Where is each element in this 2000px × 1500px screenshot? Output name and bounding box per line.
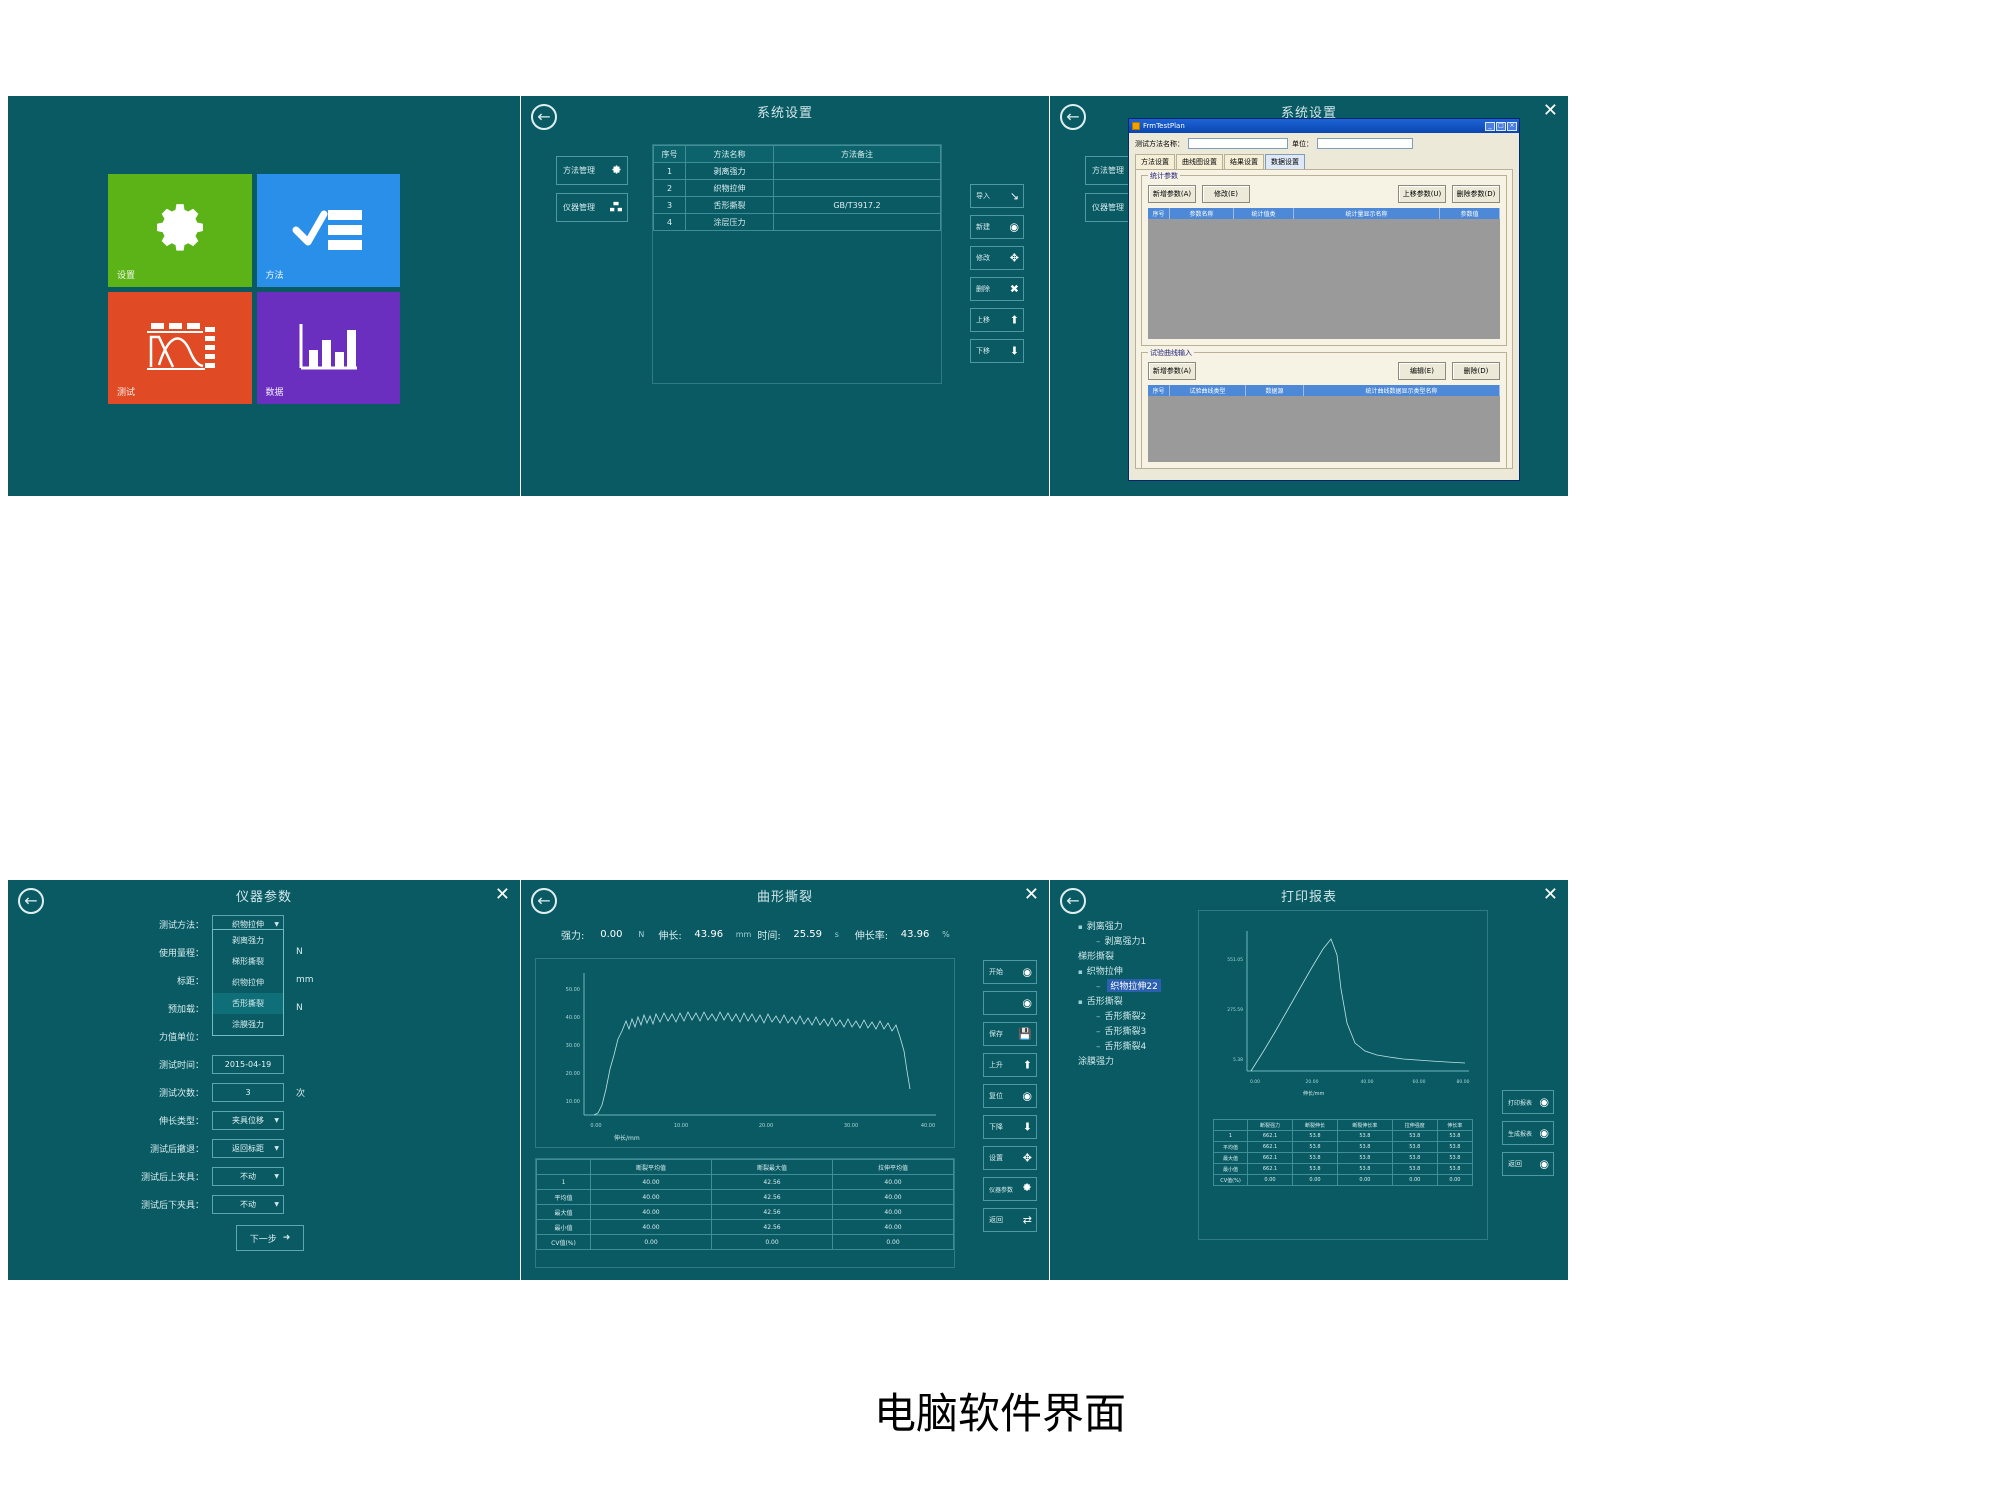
move-down-button[interactable]: 下降 ⬇	[983, 1115, 1037, 1139]
row-label: CV值(%)	[1214, 1175, 1248, 1186]
delete-curve-button[interactable]: 删除(D)	[1452, 362, 1500, 380]
cell-name: 舌形撕裂	[686, 197, 774, 214]
cell-value: 0.00	[1248, 1175, 1293, 1186]
report-result-table: 断裂强力 断裂伸长 断裂伸长率 拉伸强度 伸长率 1 662.1 53.8 53…	[1213, 1119, 1473, 1186]
figure-caption: 电脑软件界面	[0, 1380, 2000, 1441]
unit-input[interactable]	[1317, 138, 1413, 149]
curve-icon	[143, 319, 217, 377]
button-label: 修改	[976, 253, 990, 263]
cell-value: 40.00	[833, 1205, 954, 1220]
page-title: 系统设置	[521, 102, 1049, 121]
row-label: 最大值	[1214, 1153, 1248, 1164]
field-label: 测试时间：	[94, 1058, 212, 1071]
column-header-name: 方法名称	[686, 146, 774, 163]
method-name-input[interactable]	[1188, 138, 1288, 149]
print-circle-icon: ◉	[1539, 1096, 1549, 1109]
tree-node-trapezoid-tear[interactable]: 梯形撕裂	[1072, 948, 1184, 963]
doc-circle-icon: ◉	[1539, 1127, 1549, 1140]
parameter-grid-header: 序号 参数名称 统计值类 统计量显示名称 参数值	[1148, 208, 1500, 219]
tile-grid: 设置 方法	[108, 174, 400, 404]
svg-text:0.00: 0.00	[590, 1123, 601, 1129]
row-label: CV值(%)	[537, 1235, 591, 1250]
button-label: 下移	[976, 346, 990, 356]
devices-icon	[610, 201, 622, 214]
column-header-blank	[1214, 1120, 1248, 1131]
field-test-count: 测试次数： 3 次	[94, 1078, 434, 1106]
import-button[interactable]: 导入 ↘	[970, 184, 1024, 208]
field-test-date: 测试时间： 2015-04-19	[94, 1050, 434, 1078]
close-icon[interactable]: ×	[1507, 122, 1517, 131]
table-header-row: 序号 方法名称 方法备注	[654, 146, 941, 163]
side-button-label: 仪器管理	[1092, 202, 1124, 213]
cell-value: 53.8	[1293, 1164, 1338, 1175]
page-title: 曲形撕裂	[521, 886, 1049, 905]
column-header-tensile-avg: 拉伸平均值	[833, 1160, 954, 1175]
row-label: 1	[1214, 1131, 1248, 1142]
col-display: 统计量显示名称	[1294, 208, 1440, 219]
svg-text:80.00: 80.00	[1457, 1079, 1470, 1085]
edit-curve-button[interactable]: 编辑(E)	[1398, 362, 1446, 380]
refresh-icon: ⇄	[1023, 1214, 1032, 1227]
tile-label: 方法	[266, 268, 284, 281]
parameter-grid-body[interactable]	[1148, 219, 1500, 339]
system-settings-dialog-panel: ← 系统设置 ✕ 方法管理 仪器管理 FrmTestPlan _ □ ×	[1050, 96, 1568, 496]
cell-value: 42.56	[712, 1220, 833, 1235]
tree-node-tongue-tear[interactable]: 舌形撕裂	[1072, 993, 1184, 1008]
report-action-button-group: 打印报表 ◉ 生成报表 ◉ 返回 ◉	[1502, 1090, 1554, 1183]
reset-button[interactable]: 复位 ◉	[983, 1084, 1037, 1108]
edit-button[interactable]: 修改 ✥	[970, 246, 1024, 270]
cell-value: 662.1	[1248, 1131, 1293, 1142]
button-label: 设置	[989, 1153, 1003, 1163]
col-curve-type: 试验曲线类型	[1170, 385, 1246, 396]
table-row[interactable]: 最小值 662.1 53.8 53.8 53.8 53.8	[1214, 1164, 1473, 1175]
cell-value: 40.00	[833, 1190, 954, 1205]
table-row[interactable]: 2 织物拉伸	[654, 180, 941, 197]
svg-text:伸长/mm: 伸长/mm	[1303, 1090, 1325, 1097]
cell-value: 53.8	[1437, 1164, 1472, 1175]
next-step-button[interactable]: 下一步 ➜	[236, 1225, 304, 1251]
tile-label: 设置	[117, 268, 135, 281]
field-value: 不动	[240, 1199, 256, 1210]
cell-value: 53.8	[1437, 1142, 1472, 1153]
report-chart: 551.05 275.59 5.38 0.00 20.00 40.00 60.0…	[1207, 919, 1481, 1107]
row-label: 最大值	[537, 1205, 591, 1220]
col-index: 序号	[1148, 385, 1170, 396]
field-unit: 次	[284, 1086, 305, 1099]
cell-remark	[774, 214, 941, 231]
svg-text:0.00: 0.00	[1250, 1079, 1260, 1085]
table-row[interactable]: 平均值 662.1 53.8 53.8 53.8 53.8	[1214, 1142, 1473, 1153]
method-management-button[interactable]: 方法管理	[556, 156, 628, 185]
test-curve-panel: ← 曲形撕裂 ✕ 强力: 0.00 N 伸长: 43.96 mm 时间: 25.…	[521, 880, 1049, 1280]
cell-remark	[774, 163, 941, 180]
field-value: 3	[245, 1088, 250, 1097]
elongation-type-select[interactable]: 夹具位移	[212, 1111, 284, 1130]
cell-value: 40.00	[591, 1205, 712, 1220]
live-readout-bar: 强力: 0.00 N 伸长: 43.96 mm 时间: 25.59 s 伸长率:…	[561, 927, 1009, 942]
cell-value: 53.8	[1293, 1142, 1338, 1153]
force-label: 强力:	[561, 927, 584, 942]
column-header-break-force: 断裂强力	[1248, 1120, 1293, 1131]
minimize-icon[interactable]: _	[1485, 122, 1495, 131]
dialog-tab-page: 统计参数 新增参数(A) 修改(E) 上移参数(U) 删除参数(D) 序号 参数…	[1135, 169, 1513, 469]
svg-text:50.00: 50.00	[566, 987, 580, 993]
cell-remark	[774, 180, 941, 197]
tree-node-peel-strength-1[interactable]: 剥离强力1	[1072, 933, 1184, 948]
circle-plus-icon: ◉	[1009, 221, 1019, 234]
cell-value: 40.00	[591, 1220, 712, 1235]
report-chart-svg: 551.05 275.59 5.38 0.00 20.00 40.00 60.0…	[1207, 919, 1481, 1107]
app-icon	[1132, 122, 1140, 130]
table-row[interactable]: 1 剥离强力	[654, 163, 941, 180]
time-unit: s	[835, 930, 849, 939]
button-label: 删除	[976, 284, 990, 294]
dropdown-option[interactable]: 梯形撕裂	[213, 951, 283, 972]
button-label: 生成报表	[1508, 1129, 1532, 1138]
tab-method-settings[interactable]: 方法设置	[1135, 154, 1175, 169]
button-label: 打印报表	[1508, 1098, 1532, 1107]
col-source: 数据源	[1246, 385, 1304, 396]
test-date-input[interactable]: 2015-04-19	[212, 1055, 284, 1074]
print-report-button[interactable]: 打印报表 ◉	[1502, 1090, 1554, 1114]
time-value: 25.59	[787, 929, 829, 940]
table-row[interactable]: 1 662.1 53.8 53.8 53.8 53.8	[1214, 1131, 1473, 1142]
button-label: 保存	[989, 1029, 1003, 1039]
dropdown-option[interactable]: 剥离强力	[213, 930, 283, 951]
table-row[interactable]: 最大值 40.00 42.56 40.00	[537, 1205, 954, 1220]
button-label: 仪器参数	[989, 1185, 1013, 1194]
arrow-up-icon: ⬆	[1010, 314, 1019, 327]
svg-text:40.00: 40.00	[921, 1123, 935, 1129]
svg-text:30.00: 30.00	[844, 1123, 858, 1129]
stop-button[interactable]: ◉	[983, 991, 1037, 1015]
tree-node-fabric-tensile-22[interactable]: 织物拉伸22	[1072, 978, 1184, 993]
move-up-button[interactable]: 上升 ⬆	[983, 1053, 1037, 1077]
button-label: 下降	[989, 1122, 1003, 1132]
tile-label: 测试	[117, 385, 135, 398]
field-elongation-type: 伸长类型： 夹具位移	[94, 1106, 434, 1134]
row-label: 最小值	[1214, 1164, 1248, 1175]
table-row[interactable]: 1 40.00 42.56 40.00	[537, 1175, 954, 1190]
test-method-dropdown-list[interactable]: 剥离强力 梯形撕裂 织物拉伸 舌形撕裂 涂膜强力	[212, 929, 284, 1036]
field-post-test-return: 测试后撤退： 返回标距	[94, 1134, 434, 1162]
button-label: 导入	[976, 191, 990, 201]
elongation-rate-label: 伸长率:	[855, 927, 888, 942]
print-report-panel: ← 打印报表 ✕ 剥离强力 剥离强力1 梯形撕裂 织物拉伸 织物拉伸22 舌形撕…	[1050, 880, 1568, 1280]
close-x-icon[interactable]: ✕	[1024, 886, 1039, 904]
field-value: 织物拉伸	[232, 919, 264, 930]
row-label: 平均值	[537, 1190, 591, 1205]
generate-report-button[interactable]: 生成报表 ◉	[1502, 1121, 1554, 1145]
cell-index: 1	[654, 163, 686, 180]
dropdown-option[interactable]: 舌形撕裂	[213, 993, 283, 1014]
stop-circle-icon: ◉	[1022, 997, 1032, 1010]
cell-value: 53.8	[1293, 1153, 1338, 1164]
arrow-down-icon: ⬇	[1010, 345, 1019, 358]
return-button[interactable]: 返回 ⇄	[983, 1208, 1037, 1232]
field-value: 2015-04-19	[225, 1060, 272, 1069]
table-row[interactable]: CV值(%) 0.00 0.00 0.00	[537, 1235, 954, 1250]
dropdown-option[interactable]: 涂膜强力	[213, 1014, 283, 1035]
column-header-elong-rate: 伸长率	[1437, 1120, 1472, 1131]
gear-icon	[1022, 1183, 1032, 1196]
gear-icon	[149, 199, 211, 261]
dialog-tabs: 方法设置 曲线图设置 结果设置 数据设置	[1135, 154, 1513, 169]
curve-grid-header: 序号 试验曲线类型 数据源 统计曲线数据显示类型名称	[1148, 385, 1500, 396]
cell-value: 40.00	[833, 1175, 954, 1190]
table-row[interactable]: 最小值 40.00 42.56 40.00	[537, 1220, 954, 1235]
field-label: 伸长类型：	[94, 1114, 212, 1127]
move-parameter-button[interactable]: 上移参数(U)	[1398, 185, 1446, 203]
dialog-title: FrmTestPlan	[1143, 122, 1185, 130]
field-label: 力值单位：	[94, 1030, 212, 1043]
field-label: 测试方法：	[94, 918, 212, 931]
unit-label: 单位：	[1292, 139, 1313, 149]
tree-node-tongue-tear-3[interactable]: 舌形撕裂3	[1072, 1023, 1184, 1038]
svg-text:10.00: 10.00	[566, 1099, 580, 1105]
cell-value: 0.00	[1338, 1175, 1393, 1186]
cell-name: 织物拉伸	[686, 180, 774, 197]
time-label: 时间:	[757, 927, 780, 942]
bar-chart-icon	[295, 320, 361, 376]
test-count-input[interactable]: 3	[212, 1083, 284, 1102]
elongation-rate-value: 43.96	[894, 929, 936, 940]
checklist-icon	[290, 202, 366, 258]
curve-input-group: 试验曲线输入 新增参数(A) 编辑(E) 删除(D) 序号 试验曲线类型 数据源…	[1141, 352, 1507, 469]
instrument-parameters-panel: ← 仪器参数 ✕ 测试方法： 织物拉伸 剥离强力 梯形撕裂 织物拉伸 舌形撕裂 …	[8, 880, 520, 1280]
button-label: 上移	[976, 315, 990, 325]
svg-text:60.00: 60.00	[1413, 1079, 1426, 1085]
field-value: 夹具位移	[232, 1115, 264, 1126]
svg-text:30.00: 30.00	[566, 1043, 580, 1049]
table-row[interactable]: CV值(%) 0.00 0.00 0.00 0.00 0.00	[1214, 1175, 1473, 1186]
move-up-button[interactable]: 上移 ⬆	[970, 308, 1024, 332]
wrench-icon: ✥	[1010, 252, 1019, 265]
tree-node-peel-strength[interactable]: 剥离强力	[1072, 918, 1184, 933]
svg-text:伸长/mm: 伸长/mm	[614, 1134, 640, 1142]
button-label: 返回	[1508, 1159, 1522, 1169]
cell-index: 3	[654, 197, 686, 214]
arrow-down-icon: ⬇	[1023, 1121, 1032, 1134]
column-header-remark: 方法备注	[774, 146, 941, 163]
button-label: 开始	[989, 967, 1003, 977]
dropdown-option[interactable]: 织物拉伸	[213, 972, 283, 993]
cell-value: 662.1	[1248, 1164, 1293, 1175]
tile-settings[interactable]: 设置	[108, 174, 252, 287]
tree-node-selected-label: 织物拉伸22	[1107, 979, 1160, 992]
report-tree: 剥离强力 剥离强力1 梯形撕裂 织物拉伸 织物拉伸22 舌形撕裂 舌形撕裂2 舌…	[1072, 918, 1184, 1068]
post-test-return-select[interactable]: 返回标距	[212, 1139, 284, 1158]
side-button-label: 仪器管理	[563, 202, 595, 213]
cell-value: 53.8	[1338, 1131, 1393, 1142]
tree-node-tongue-tear-2[interactable]: 舌形撕裂2	[1072, 1008, 1184, 1023]
tile-test[interactable]: 测试	[108, 292, 252, 405]
cell-value: 53.8	[1338, 1153, 1393, 1164]
parameter-form: 测试方法： 织物拉伸 剥离强力 梯形撕裂 织物拉伸 舌形撕裂 涂膜强力 使用量程…	[94, 910, 434, 1218]
arrow-up-icon: ⬆	[1023, 1059, 1032, 1072]
tile-method[interactable]: 方法	[257, 174, 401, 287]
field-value: 不动	[240, 1171, 256, 1182]
close-x-icon[interactable]: ✕	[1543, 886, 1558, 904]
return-button[interactable]: 返回 ◉	[1502, 1152, 1554, 1176]
col-index: 序号	[1148, 208, 1170, 219]
cell-value: 0.00	[591, 1235, 712, 1250]
field-label: 预加载：	[94, 1002, 212, 1015]
force-unit: N	[638, 930, 652, 939]
field-label: 测试后撤退：	[94, 1142, 212, 1155]
edit-parameter-button[interactable]: 修改(E)	[1202, 185, 1250, 203]
column-header-tensile-strength: 拉伸强度	[1392, 1120, 1437, 1131]
table-row[interactable]: 最大值 662.1 53.8 53.8 53.8 53.8	[1214, 1153, 1473, 1164]
elongation-rate-unit: %	[942, 930, 956, 939]
row-label: 平均值	[1214, 1142, 1248, 1153]
button-label: 下一步	[250, 1232, 277, 1245]
tile-data[interactable]: 数据	[257, 292, 401, 405]
reset-circle-icon: ◉	[1022, 1090, 1032, 1103]
svg-text:20.00: 20.00	[759, 1123, 773, 1129]
close-x-icon[interactable]: ✕	[1543, 102, 1558, 120]
field-label: 测试次数：	[94, 1086, 212, 1099]
column-header-break-elong: 断裂伸长	[1293, 1120, 1338, 1131]
delete-button[interactable]: 删除 ✖	[970, 277, 1024, 301]
test-plan-dialog: FrmTestPlan _ □ × 测试方法名称： 单位： 方法设置 曲线图设置…	[1128, 118, 1520, 481]
import-arrow-icon: ↘	[1010, 190, 1019, 203]
lower-clamp-select[interactable]: 不动	[212, 1195, 284, 1214]
instrument-params-button[interactable]: 仪器参数	[983, 1177, 1037, 1201]
save-button[interactable]: 保存 💾	[983, 1022, 1037, 1046]
svg-text:551.05: 551.05	[1227, 957, 1243, 963]
cell-value: 40.00	[833, 1220, 954, 1235]
column-header-index: 序号	[654, 146, 686, 163]
add-curve-button[interactable]: 新增参数(A)	[1148, 362, 1196, 380]
cell-name: 涂层压力	[686, 214, 774, 231]
delete-parameter-button[interactable]: 删除参数(D)	[1452, 185, 1500, 203]
table-row[interactable]: 4 涂层压力	[654, 214, 941, 231]
maximize-icon[interactable]: □	[1496, 122, 1506, 131]
elongation-value: 43.96	[688, 929, 730, 940]
tree-node-fabric-tensile[interactable]: 织物拉伸	[1072, 963, 1184, 978]
tree-node-coating-strength[interactable]: 涂膜强力	[1072, 1053, 1184, 1068]
arrow-right-circle-icon: ➜	[283, 1233, 291, 1243]
add-parameter-button[interactable]: 新增参数(A)	[1148, 185, 1196, 203]
cell-value: 53.8	[1392, 1164, 1437, 1175]
upper-clamp-select[interactable]: 不动	[212, 1167, 284, 1186]
svg-text:40.00: 40.00	[566, 1015, 580, 1021]
report-preview: 551.05 275.59 5.38 0.00 20.00 40.00 60.0…	[1198, 910, 1488, 1240]
row-label: 1	[537, 1175, 591, 1190]
cell-value: 662.1	[1248, 1142, 1293, 1153]
side-button-group: 方法管理 仪器管理	[556, 156, 628, 230]
start-screen-panel: 设置 方法	[8, 96, 520, 496]
tree-node-tongue-tear-4[interactable]: 舌形撕裂4	[1072, 1038, 1184, 1053]
save-icon: 💾	[1018, 1028, 1032, 1041]
statistics-parameter-group: 统计参数 新增参数(A) 修改(E) 上移参数(U) 删除参数(D) 序号 参数…	[1141, 175, 1507, 346]
move-down-button[interactable]: 下移 ⬇	[970, 339, 1024, 363]
tab-result-settings[interactable]: 结果设置	[1224, 154, 1264, 169]
result-data-grid: 断裂平均值 断裂最大值 拉伸平均值 1 40.00 42.56 40.00 平均…	[535, 1158, 955, 1268]
col-display: 统计曲线数据显示类型名称	[1304, 385, 1500, 396]
play-circle-icon: ◉	[1022, 966, 1032, 979]
system-settings-panel: ← 系统设置 方法管理 仪器管理 序号 方法名称 方法备注	[521, 96, 1049, 496]
elongation-label: 伸长:	[658, 927, 681, 942]
svg-text:40.00: 40.00	[1361, 1079, 1374, 1085]
tab-curve-settings[interactable]: 曲线图设置	[1176, 154, 1223, 169]
cell-index: 2	[654, 180, 686, 197]
close-x-icon[interactable]: ✕	[495, 886, 510, 904]
field-lower-clamp: 测试后下夹具： 不动	[94, 1190, 434, 1218]
column-header-break-max: 断裂最大值	[712, 1160, 833, 1175]
gear-icon	[611, 164, 622, 177]
cell-value: 42.56	[712, 1175, 833, 1190]
curve-grid-body[interactable]	[1148, 396, 1500, 462]
cell-value: 0.00	[833, 1235, 954, 1250]
side-button-label: 方法管理	[563, 165, 595, 176]
wrench-icon: ✥	[1023, 1152, 1032, 1165]
instrument-management-button[interactable]: 仪器管理	[556, 193, 628, 222]
svg-text:5.38: 5.38	[1233, 1057, 1243, 1063]
start-button[interactable]: 开始 ◉	[983, 960, 1037, 984]
close-x-icon: ✖	[1010, 283, 1019, 296]
col-value: 参数值	[1440, 208, 1500, 219]
svg-text:10.00: 10.00	[674, 1123, 688, 1129]
action-button-group: 导入 ↘ 新建 ◉ 修改 ✥ 删除 ✖ 上移 ⬆ 下移 ⬇	[970, 184, 1024, 370]
column-header-break-avg: 断裂平均值	[591, 1160, 712, 1175]
cell-value: 662.1	[1248, 1153, 1293, 1164]
cell-value: 53.8	[1437, 1153, 1472, 1164]
tab-data-settings[interactable]: 数据设置	[1265, 154, 1305, 169]
row-label: 最小值	[537, 1220, 591, 1235]
settings-button[interactable]: 设置 ✥	[983, 1146, 1037, 1170]
back-circle-icon: ◉	[1539, 1158, 1549, 1171]
chart-svg: 50.00 40.00 30.00 20.00 10.00 0.00 10.00…	[536, 959, 954, 1147]
field-label: 标距：	[94, 974, 212, 987]
field-label: 测试后下夹具：	[94, 1198, 212, 1211]
new-button[interactable]: 新建 ◉	[970, 215, 1024, 239]
cell-value: 53.8	[1293, 1131, 1338, 1142]
cell-value: 53.8	[1392, 1153, 1437, 1164]
field-upper-clamp: 测试后上夹具： 不动	[94, 1162, 434, 1190]
cell-value: 40.00	[591, 1190, 712, 1205]
page-title: 打印报表	[1050, 886, 1568, 905]
column-header-break-elong-rate: 断裂伸长率	[1338, 1120, 1393, 1131]
svg-text:20.00: 20.00	[1306, 1079, 1319, 1085]
cell-value: 40.00	[591, 1175, 712, 1190]
col-param-name: 参数名称	[1170, 208, 1234, 219]
cell-value: 0.00	[1437, 1175, 1472, 1186]
cell-value: 53.8	[1338, 1142, 1393, 1153]
table-row[interactable]: 平均值 40.00 42.56 40.00	[537, 1190, 954, 1205]
col-stat-type: 统计值类	[1234, 208, 1294, 219]
button-label: 返回	[989, 1215, 1003, 1225]
cell-value: 0.00	[1392, 1175, 1437, 1186]
button-label: 新建	[976, 222, 990, 232]
dialog-title-bar[interactable]: FrmTestPlan _ □ ×	[1129, 119, 1519, 133]
tile-label: 数据	[266, 385, 284, 398]
cell-name: 剥离强力	[686, 163, 774, 180]
field-test-method: 测试方法： 织物拉伸 剥离强力 梯形撕裂 织物拉伸 舌形撕裂 涂膜强力	[94, 910, 434, 938]
field-unit: mm	[284, 975, 314, 985]
field-label: 测试后上夹具：	[94, 1170, 212, 1183]
table-row[interactable]: 3 舌形撕裂 GB/T3917.2	[654, 197, 941, 214]
button-label: 上升	[989, 1060, 1003, 1070]
cell-remark: GB/T3917.2	[774, 197, 941, 214]
field-unit: N	[284, 1003, 303, 1013]
field-value: 返回标距	[232, 1143, 264, 1154]
cell-value: 53.8	[1338, 1164, 1393, 1175]
method-table: 序号 方法名称 方法备注 1 剥离强力 2 织物拉伸 3 舌形撕裂	[652, 144, 942, 384]
cell-value: 42.56	[712, 1205, 833, 1220]
